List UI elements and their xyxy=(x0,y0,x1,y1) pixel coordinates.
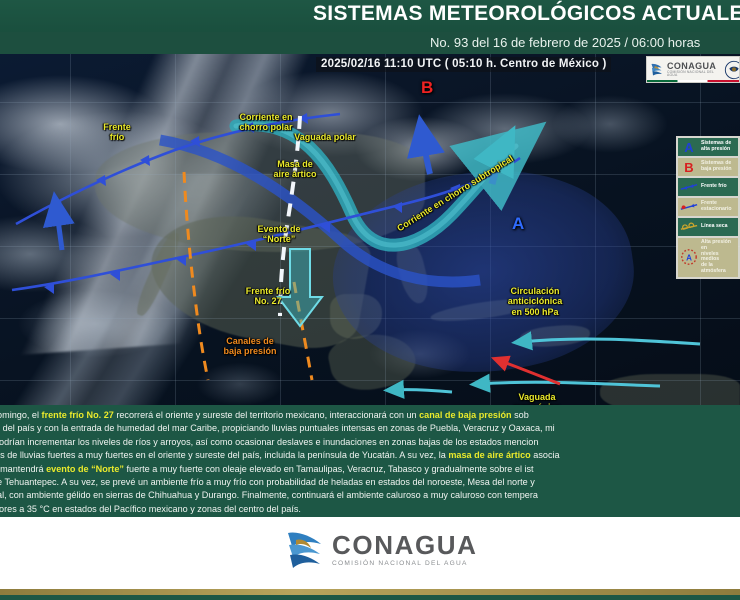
forecast-text: asocia xyxy=(531,450,560,460)
forecast-text: nás de lluvias fuertes a muy fuertes en … xyxy=(0,450,448,460)
legend-label-cold-front: Frente frío xyxy=(701,184,727,190)
label-frente-frio-27: Frente frío No. 27 xyxy=(233,286,303,307)
high-pressure-marker-a: A xyxy=(512,214,524,234)
label-masa-aire-artico: Masa de aire ártico xyxy=(265,159,325,180)
forecast-highlight: frente frío No. 27 xyxy=(42,410,114,420)
forecast-line: de Tehuantepec. A su vez, se prevé un am… xyxy=(0,478,535,487)
forecast-line: riores a 35 °C en estados del Pacífico m… xyxy=(0,505,301,514)
map-timestamp: 2025/02/16 11:10 UTC ( 05:10 h. Centro d… xyxy=(316,57,611,72)
forecast-highlight: canal de baja presión xyxy=(419,410,512,420)
low-level-current-arrow-1 xyxy=(478,382,660,386)
legend-label-dry-line: Línea seca xyxy=(701,224,728,230)
bulletin-number-date: No. 93 del 16 de febrero de 2025 / 06:00… xyxy=(430,35,700,50)
conagua-eagle-icon xyxy=(650,62,663,77)
conagua-eagle-water-icon xyxy=(284,527,324,573)
legend-label-low-pressure: Sistemas de baja presión xyxy=(701,161,732,173)
low-level-current-arrow-2 xyxy=(520,339,700,344)
conagua-wordmark: CONAGUA COMISIÓN NACIONAL DEL AGUA xyxy=(667,62,716,78)
label-frente-frio-nw: Frente frío xyxy=(90,122,144,143)
label-canales-baja-presion: Canales de baja presión xyxy=(211,336,289,357)
label-circulacion-anticiclonica: Circulación anticiclónica en 500 hPa xyxy=(490,286,580,317)
legend-item-cold-front: Frente frío xyxy=(678,178,738,196)
high-pressure-a-icon: A xyxy=(680,140,698,154)
forecast-line: nás de lluvias fuertes a muy fuertes en … xyxy=(0,451,560,460)
footer-wordmark: CONAGUA COMISIÓN NACIONAL DEL AGUA xyxy=(332,532,478,568)
forecast-text: de Tehuantepec. A su vez, se prevé un am… xyxy=(0,477,535,487)
monsoon-trough-line xyxy=(498,360,560,384)
upper-level-arrow-b xyxy=(422,132,430,174)
conagua-tagline: COMISIÓN NACIONAL DEL AGUA xyxy=(667,71,716,78)
low-pressure-channel-west xyxy=(184,172,208,380)
high-aloft-icon: A xyxy=(680,250,698,264)
footer-logo-tagline: COMISIÓN NACIONAL DEL AGUA xyxy=(332,561,478,568)
legend-label-stationary-front: Frente estacionario xyxy=(701,201,732,213)
forecast-text: fuerte a muy fuerte con oleaje elevado e… xyxy=(124,464,534,474)
forecast-text: sob xyxy=(512,410,529,420)
forecast-text: podrían incrementar los niveles de ríos … xyxy=(0,437,538,447)
footer-conagua-logo: CONAGUA COMISIÓN NACIONAL DEL AGUA xyxy=(284,527,478,573)
forecast-line: e, mantendrá evento de “Norte” fuerte a … xyxy=(0,465,534,474)
legend-item-stationary-front: Frente estacionario xyxy=(678,198,738,216)
stationary-front-icon xyxy=(680,200,698,214)
map-conagua-logo: CONAGUA COMISIÓN NACIONAL DEL AGUA xyxy=(646,56,740,83)
forecast-line: ste del país y con la entrada de humedad… xyxy=(0,424,555,433)
low-level-current-arrow-3 xyxy=(392,390,452,392)
forecast-text: ral, con ambiente gélido en sierras de C… xyxy=(0,490,538,500)
header-band: SISTEMAS METEOROLÓGICOS ACTUALES xyxy=(0,0,740,32)
satellite-map[interactable]: Frente frío Corriente en chorro polar Va… xyxy=(0,54,740,405)
forecast-text: e, mantendrá xyxy=(0,464,46,474)
upper-level-arrow-west xyxy=(56,206,62,250)
forecast-text: recorrerá el oriente y sureste del terri… xyxy=(114,410,419,420)
legend-item-dry-line: Línea seca xyxy=(678,218,738,236)
svg-text:A: A xyxy=(686,254,692,263)
low-pressure-b-icon: B xyxy=(680,160,698,174)
label-vaguada-polar: Vaguada polar xyxy=(280,132,370,142)
legend-item-high-aloft: A Alta presión en niveles medios de la a… xyxy=(678,238,738,277)
label-vaguada-monzonica: Vaguada monzónica xyxy=(505,392,569,405)
footer: CONAGUA COMISIÓN NACIONAL DEL AGUA xyxy=(0,517,740,600)
forecast-text-block: domingo, el frente frío No. 27 recorrerá… xyxy=(0,405,740,517)
footer-green-band xyxy=(0,595,740,600)
weather-overlay-vectors xyxy=(0,54,740,405)
dry-line-icon xyxy=(680,220,698,234)
map-legend: A Sistemas de alta presión B Sistemas de… xyxy=(676,136,740,279)
legend-item-high-pressure: A Sistemas de alta presión xyxy=(678,138,738,156)
footer-logo-name: CONAGUA xyxy=(332,532,478,558)
legend-label-high-pressure: Sistemas de alta presión xyxy=(701,141,731,153)
label-corriente-chorro-polar: Corriente en chorro polar xyxy=(224,112,308,133)
page-title: SISTEMAS METEOROLÓGICOS ACTUALES xyxy=(313,2,740,26)
forecast-highlight: evento de “Norte” xyxy=(46,464,124,474)
forecast-highlight: masa de aire ártico xyxy=(448,450,530,460)
forecast-text: ste del país y con la entrada de humedad… xyxy=(0,423,555,433)
low-pressure-marker-b: B xyxy=(421,78,433,98)
forecast-line: podrían incrementar los niveles de ríos … xyxy=(0,438,538,447)
forecast-text: domingo, el xyxy=(0,410,42,420)
forecast-line: ral, con ambiente gélido en sierras de C… xyxy=(0,491,538,500)
legend-item-low-pressure: B Sistemas de baja presión xyxy=(678,158,738,176)
cold-front-icon xyxy=(680,180,698,194)
forecast-text: riores a 35 °C en estados del Pacífico m… xyxy=(0,504,301,514)
forecast-line: domingo, el frente frío No. 27 recorrerá… xyxy=(0,411,529,420)
mexico-flag-stripe xyxy=(647,80,739,82)
legend-label-high-aloft: Alta presión en niveles medios de la atm… xyxy=(701,240,736,275)
government-seal-icon xyxy=(724,60,740,80)
label-evento-de-norte: Evento de “Norte” xyxy=(243,224,315,245)
subheader-band: No. 93 del 16 de febrero de 2025 / 06:00… xyxy=(0,32,740,54)
